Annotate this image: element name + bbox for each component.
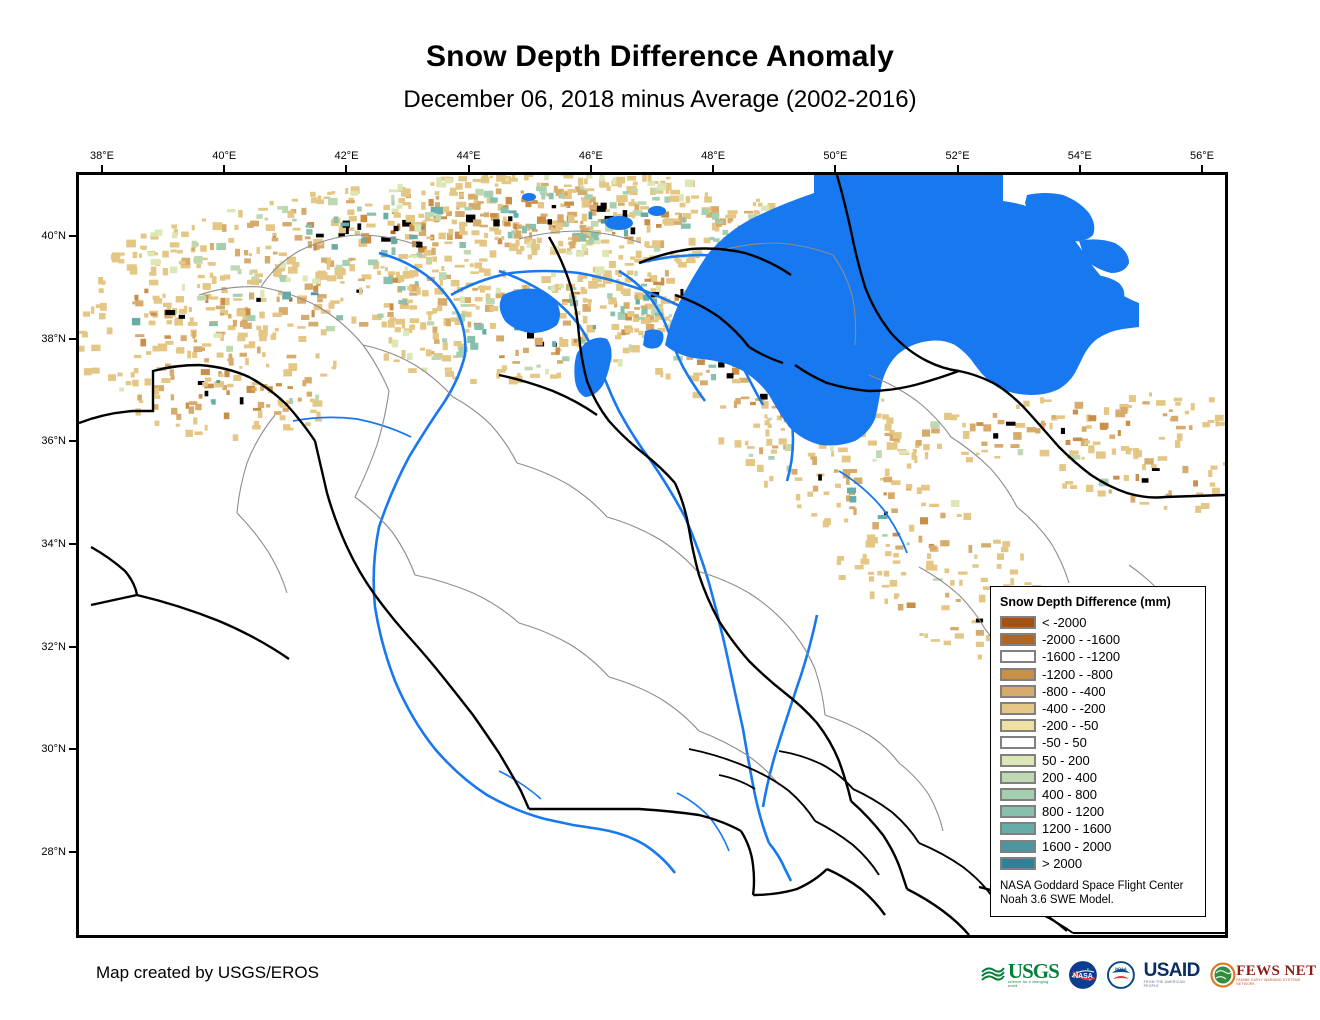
anomaly-cell-positive xyxy=(415,281,419,285)
anomaly-cell-positive xyxy=(496,288,501,294)
anomaly-cell-negative xyxy=(165,310,175,315)
anomaly-cell-negative xyxy=(1027,427,1036,432)
anomaly-cell-negative xyxy=(1164,506,1168,510)
anomaly-cell-negative xyxy=(131,372,135,377)
anomaly-cell-positive xyxy=(464,250,471,254)
anomaly-cell-negative xyxy=(133,252,138,258)
anomaly-cell-negative xyxy=(192,352,197,358)
anomaly-cell-negative xyxy=(940,540,949,546)
legend-label: -400 - -200 xyxy=(1042,702,1106,715)
anomaly-cell-negative xyxy=(121,253,125,256)
anomaly-cell-negative xyxy=(541,183,549,186)
anomaly-cell-negative xyxy=(931,639,940,642)
anomaly-cell-negative xyxy=(475,240,481,244)
latitude-label: 30°N xyxy=(18,743,66,755)
anomaly-cell-positive xyxy=(392,340,399,348)
anomaly-cell-negative xyxy=(818,474,822,480)
legend-swatch xyxy=(1000,805,1036,818)
anomaly-cell-negative xyxy=(126,240,136,248)
anomaly-cell-positive xyxy=(589,238,594,244)
anomaly-cell-negative xyxy=(885,599,889,605)
anomaly-cell-negative xyxy=(1201,503,1210,509)
anomaly-cell-positive xyxy=(461,304,469,307)
anomaly-cell-negative xyxy=(796,494,800,500)
anomaly-cell-negative xyxy=(1040,450,1050,457)
anomaly-cell-negative xyxy=(382,322,387,328)
anomaly-cell-positive xyxy=(332,244,338,250)
anomaly-cell-negative xyxy=(249,293,254,300)
anomaly-cell-negative xyxy=(195,431,203,435)
anomaly-cell-negative xyxy=(111,254,117,259)
anomaly-cell-negative xyxy=(884,492,887,495)
anomaly-cell-negative xyxy=(305,284,313,290)
legend-row: -1600 - -1200 xyxy=(1000,648,1196,665)
anomaly-cell-negative xyxy=(706,370,710,373)
anomaly-cell-negative xyxy=(1109,435,1115,439)
anomaly-cell-negative xyxy=(399,254,408,259)
anomaly-cell-negative xyxy=(523,348,529,353)
anomaly-cell-positive xyxy=(631,189,638,192)
anomaly-cell-negative xyxy=(697,359,705,365)
usgs-wave-icon xyxy=(980,962,1006,988)
anomaly-cell-negative xyxy=(118,259,124,263)
anomaly-cell-negative xyxy=(395,319,405,325)
anomaly-cell-negative xyxy=(434,339,440,344)
legend-label: 1200 - 1600 xyxy=(1042,822,1111,835)
anomaly-cell-negative xyxy=(409,293,417,296)
anomaly-cell-negative xyxy=(537,238,542,244)
anomaly-cell-positive xyxy=(580,187,585,190)
anomaly-cell-negative xyxy=(955,633,964,638)
anomaly-cell-negative xyxy=(317,199,325,204)
anomaly-cell-negative xyxy=(426,349,432,356)
anomaly-cell-negative xyxy=(920,517,928,524)
anomaly-cell-negative xyxy=(476,306,480,310)
anomaly-cell-negative xyxy=(518,224,522,229)
anomaly-cell-negative xyxy=(921,503,926,507)
legend-row: 1200 - 1600 xyxy=(1000,820,1196,837)
anomaly-cell-negative xyxy=(366,224,375,228)
anomaly-cell-negative xyxy=(480,214,485,217)
anomaly-cell-negative xyxy=(477,201,483,204)
anomaly-cell-negative xyxy=(470,379,477,384)
anomaly-cell-negative xyxy=(613,212,617,216)
anomaly-cell-negative xyxy=(213,222,223,230)
anomaly-cell-negative xyxy=(456,202,466,208)
anomaly-cell-positive xyxy=(591,221,599,227)
legend-swatch xyxy=(1000,822,1036,835)
anomaly-cell-negative xyxy=(1100,423,1107,430)
anomaly-cell-negative xyxy=(409,305,417,309)
usgs-logo: USGS science for a changing world xyxy=(980,960,1059,990)
anomaly-cell-negative xyxy=(558,249,566,254)
anomaly-cell-negative xyxy=(490,250,497,257)
anomaly-cell-negative xyxy=(201,369,210,375)
anomaly-cell-negative xyxy=(884,571,890,577)
anomaly-cell-negative xyxy=(145,378,151,385)
anomaly-cell-negative xyxy=(177,250,183,253)
anomaly-cell-negative xyxy=(1129,395,1136,402)
anomaly-cell-positive xyxy=(426,259,431,262)
anomaly-cell-negative xyxy=(107,327,113,334)
anomaly-cell-negative xyxy=(1152,468,1160,471)
anomaly-cell-negative xyxy=(644,219,650,225)
anomaly-cell-negative xyxy=(1159,437,1165,440)
anomaly-cell-positive xyxy=(522,226,527,234)
anomaly-cell-negative xyxy=(305,422,311,426)
anomaly-cell-negative xyxy=(1098,490,1106,496)
anomaly-cell-negative xyxy=(1023,401,1029,407)
anomaly-cell-positive xyxy=(474,324,484,330)
anomaly-cell-negative xyxy=(921,485,930,491)
anomaly-cell-negative xyxy=(1006,422,1016,426)
usgs-tagline: science for a changing world xyxy=(1008,980,1059,988)
anomaly-cell-negative xyxy=(1209,397,1215,402)
anomaly-cell-negative xyxy=(1126,421,1130,426)
anomaly-cell-negative xyxy=(1035,428,1040,433)
anomaly-cell-negative xyxy=(271,334,276,340)
anomaly-cell-negative xyxy=(581,289,587,294)
anomaly-cell-positive xyxy=(475,189,483,196)
anomaly-cell-positive xyxy=(654,247,661,252)
anomaly-cell-positive xyxy=(315,395,319,402)
anomaly-cell-negative xyxy=(163,294,166,298)
anomaly-cell-negative xyxy=(233,434,239,441)
anomaly-cell-positive xyxy=(641,213,649,218)
longitude-tick xyxy=(957,165,959,172)
anomaly-cell-negative xyxy=(886,544,890,547)
usaid-tagline: FROM THE AMERICAN PEOPLE xyxy=(1144,980,1202,988)
anomaly-cell-negative xyxy=(582,214,588,222)
anomaly-cell-negative xyxy=(753,424,760,428)
anomaly-cell-negative xyxy=(745,441,749,446)
anomaly-cell-negative xyxy=(583,316,588,324)
anomaly-cell-negative xyxy=(537,217,546,223)
anomaly-cell-negative xyxy=(433,333,439,340)
anomaly-cell-positive xyxy=(621,306,625,314)
anomaly-cell-negative xyxy=(881,399,885,402)
anomaly-cell-negative xyxy=(1088,415,1096,421)
anomaly-cell-negative xyxy=(1211,465,1218,469)
legend-row: 200 - 400 xyxy=(1000,769,1196,786)
page-subtitle: December 06, 2018 minus Average (2002-20… xyxy=(0,86,1320,114)
anomaly-cell-negative xyxy=(489,227,494,231)
anomaly-cell-positive xyxy=(527,242,532,247)
anomaly-cell-positive xyxy=(899,450,909,454)
anomaly-cell-negative xyxy=(981,450,988,453)
anomaly-cell-negative xyxy=(402,324,405,329)
anomaly-cell-negative xyxy=(893,432,902,439)
anomaly-cell-negative xyxy=(1002,541,1010,547)
anomaly-cell-positive xyxy=(470,343,478,350)
anomaly-cell-negative xyxy=(618,203,625,206)
anomaly-cell-negative xyxy=(79,346,85,352)
anomaly-cell-negative xyxy=(907,463,912,468)
anomaly-cell-negative xyxy=(385,267,388,271)
anomaly-cell-negative xyxy=(596,284,605,288)
anomaly-cell-negative xyxy=(1193,480,1198,486)
anomaly-cell-negative xyxy=(909,525,914,532)
anomaly-cell-negative xyxy=(512,175,515,178)
anomaly-cell-positive xyxy=(399,286,406,290)
anomaly-cell-negative xyxy=(661,278,664,286)
anomaly-cell-positive xyxy=(584,194,592,199)
anomaly-cell-negative xyxy=(727,214,737,218)
anomaly-cell-negative xyxy=(337,275,343,279)
anomaly-cell-positive xyxy=(907,542,910,545)
legend-row: -2000 - -1600 xyxy=(1000,631,1196,648)
anomaly-cell-positive xyxy=(549,193,554,200)
anomaly-cell-negative xyxy=(189,401,198,405)
anomaly-cell-negative xyxy=(464,259,469,262)
anomaly-cell-negative xyxy=(831,451,834,457)
longitude-label: 56°E xyxy=(1190,150,1214,162)
anomaly-cell-negative xyxy=(165,341,173,345)
anomaly-cell-negative xyxy=(653,282,661,285)
anomaly-cell-negative xyxy=(966,457,973,462)
anomaly-cell-negative xyxy=(769,476,773,481)
anomaly-cell-negative xyxy=(193,346,202,352)
anomaly-cell-positive xyxy=(637,201,646,205)
anomaly-cell-negative xyxy=(956,599,961,602)
anomaly-cell-negative xyxy=(926,565,935,571)
anomaly-cell-negative xyxy=(1088,445,1094,453)
anomaly-cell-negative xyxy=(979,595,986,603)
anomaly-cell-negative xyxy=(997,564,1002,569)
anomaly-cell-positive xyxy=(709,365,717,368)
anomaly-cell-negative xyxy=(144,313,148,317)
anomaly-cell-negative xyxy=(772,446,778,449)
anomaly-cell-negative xyxy=(882,414,889,419)
anomaly-cell-negative xyxy=(795,477,803,481)
anomaly-cell-negative xyxy=(676,259,682,264)
anomaly-cell-negative xyxy=(432,270,439,273)
anomaly-cell-negative xyxy=(891,480,901,485)
anomaly-cell-negative xyxy=(744,211,753,214)
anomaly-cell-negative xyxy=(247,223,254,228)
anomaly-cell-negative xyxy=(589,205,597,210)
legend-row: -200 - -50 xyxy=(1000,717,1196,734)
anomaly-cell-negative xyxy=(562,302,568,306)
anomaly-cell-negative xyxy=(205,425,208,431)
anomaly-cell-negative xyxy=(914,456,917,464)
anomaly-cell-negative xyxy=(479,268,484,273)
anomaly-cell-negative xyxy=(527,332,534,338)
svg-text:NOAA: NOAA xyxy=(1115,966,1127,971)
anomaly-cell-negative xyxy=(495,230,502,235)
anomaly-cell-negative xyxy=(569,241,575,248)
anomaly-cell-negative xyxy=(916,440,922,446)
anomaly-cell-positive xyxy=(702,209,709,215)
anomaly-cell-negative xyxy=(983,424,991,431)
anomaly-cell-negative xyxy=(741,397,750,400)
anomaly-cell-negative xyxy=(384,353,389,360)
anomaly-cell-positive xyxy=(172,233,177,239)
latitude-tick xyxy=(69,235,76,237)
anomaly-cell-negative xyxy=(895,546,903,550)
anomaly-cell-negative xyxy=(727,373,734,378)
anomaly-cell-positive xyxy=(282,206,288,213)
anomaly-cell-negative xyxy=(868,572,874,575)
anomaly-cell-negative xyxy=(432,256,437,261)
anomaly-cell-negative xyxy=(627,311,634,317)
anomaly-cell-negative xyxy=(349,227,354,231)
anomaly-cell-negative xyxy=(170,242,180,247)
anomaly-cell-negative xyxy=(388,271,395,275)
anomaly-cell-negative xyxy=(144,289,148,294)
anomaly-cell-negative xyxy=(91,345,100,352)
anomaly-cell-negative xyxy=(274,411,281,415)
anomaly-cell-negative xyxy=(222,290,228,293)
anomaly-cell-positive xyxy=(634,271,638,276)
anomaly-cell-negative xyxy=(993,540,1001,544)
anomaly-cell-negative xyxy=(839,575,846,580)
anomaly-cell-negative xyxy=(451,280,460,287)
anomaly-cell-negative xyxy=(202,219,206,222)
anomaly-cell-negative xyxy=(1175,440,1180,448)
anomaly-cell-negative xyxy=(418,214,424,218)
anomaly-cell-negative xyxy=(618,182,622,188)
anomaly-cell-negative xyxy=(584,179,588,185)
anomaly-cell-negative xyxy=(913,449,917,453)
anomaly-cell-positive xyxy=(361,238,366,244)
latitude-label: 40°N xyxy=(18,230,66,242)
anomaly-cell-negative xyxy=(390,303,394,310)
anomaly-cell-negative xyxy=(330,300,340,304)
anomaly-cell-negative xyxy=(227,384,233,388)
usaid-wordmark: USAID xyxy=(1144,962,1202,979)
anomaly-cell-negative xyxy=(555,223,562,230)
legend-label: < -2000 xyxy=(1042,616,1086,629)
anomaly-cell-negative xyxy=(266,364,269,368)
anomaly-cell-positive xyxy=(465,207,472,211)
anomaly-cell-negative xyxy=(192,331,195,339)
anomaly-cell-negative xyxy=(441,266,444,271)
longitude-label: 46°E xyxy=(579,150,603,162)
anomaly-cell-negative xyxy=(282,222,291,226)
anomaly-cell-negative xyxy=(930,546,937,551)
anomaly-cell-negative xyxy=(245,358,249,365)
anomaly-cell-negative xyxy=(652,240,662,248)
anomaly-cell-negative xyxy=(132,301,135,304)
anomaly-cell-negative xyxy=(228,314,231,319)
page-title: Snow Depth Difference Anomaly xyxy=(0,40,1320,74)
anomaly-cell-negative xyxy=(619,245,624,248)
anomaly-cell-negative xyxy=(410,216,414,219)
anomaly-cell-negative xyxy=(161,378,170,383)
anomaly-cell-negative xyxy=(155,421,160,426)
anomaly-cell-positive xyxy=(930,421,939,428)
anomaly-cell-negative xyxy=(559,339,568,347)
anomaly-cell-negative xyxy=(747,446,755,449)
anomaly-cell-negative xyxy=(455,211,465,217)
anomaly-cell-negative xyxy=(470,271,479,274)
longitude-label: 40°E xyxy=(212,150,236,162)
anomaly-cell-negative xyxy=(316,353,320,358)
anomaly-cell-negative xyxy=(468,322,472,328)
anomaly-cell-negative xyxy=(384,303,391,308)
longitude-label: 42°E xyxy=(334,150,358,162)
longitude-tick xyxy=(834,165,836,172)
anomaly-cell-negative xyxy=(261,298,266,302)
anomaly-cell-negative xyxy=(99,288,104,293)
anomaly-cell-negative xyxy=(1176,426,1186,430)
latitude-tick xyxy=(69,440,76,442)
anomaly-cell-negative xyxy=(127,264,137,270)
anomaly-cell-positive xyxy=(562,356,569,361)
anomaly-cell-negative xyxy=(283,408,289,412)
anomaly-cell-negative xyxy=(224,413,230,420)
anomaly-cell-negative xyxy=(240,397,244,404)
anomaly-cell-negative xyxy=(556,347,560,354)
anomaly-cell-negative xyxy=(298,336,306,342)
anomaly-cell-negative xyxy=(153,296,160,300)
anomaly-cell-negative xyxy=(636,251,642,259)
anomaly-cell-positive xyxy=(484,191,494,198)
anomaly-cell-positive xyxy=(328,198,338,205)
anomaly-cell-negative xyxy=(993,413,998,418)
legend-label: 50 - 200 xyxy=(1042,754,1090,767)
anomaly-cell-negative xyxy=(181,232,189,238)
legend-swatch xyxy=(1000,633,1036,646)
anomaly-cell-negative xyxy=(140,339,146,347)
anomaly-cell-negative xyxy=(689,238,696,246)
anomaly-cell-negative xyxy=(484,212,489,217)
anomaly-cell-positive xyxy=(610,312,615,317)
anomaly-cell-negative xyxy=(430,182,434,186)
anomaly-cell-positive xyxy=(342,260,350,266)
lake-small-2 xyxy=(648,206,666,216)
legend-label: 800 - 1200 xyxy=(1042,805,1104,818)
anomaly-cell-negative xyxy=(976,453,980,456)
anomaly-cell-negative xyxy=(229,358,234,366)
anomaly-cell-negative xyxy=(459,227,462,230)
anomaly-cell-positive xyxy=(1018,449,1024,455)
anomaly-cell-negative xyxy=(894,593,899,597)
anomaly-cell-negative xyxy=(221,298,225,305)
anomaly-cell-negative xyxy=(612,324,620,330)
anomaly-cell-negative xyxy=(176,296,184,303)
anomaly-cell-negative xyxy=(1136,474,1140,481)
anomaly-cell-negative xyxy=(1073,438,1082,442)
legend-row: -400 - -200 xyxy=(1000,700,1196,717)
anomaly-cell-negative xyxy=(139,254,142,258)
anomaly-cell-negative xyxy=(499,355,505,358)
anomaly-cell-negative xyxy=(254,421,259,425)
anomaly-cell-positive xyxy=(119,387,124,391)
anomaly-cell-negative xyxy=(634,307,640,310)
anomaly-cell-negative xyxy=(445,371,454,377)
anomaly-cell-negative xyxy=(963,431,969,439)
anomaly-cell-negative xyxy=(417,287,421,295)
anomaly-cell-negative xyxy=(633,182,638,186)
anomaly-cell-negative xyxy=(974,555,977,560)
anomaly-cell-negative xyxy=(466,329,470,333)
anomaly-cell-negative xyxy=(163,268,168,275)
anomaly-cell-negative xyxy=(202,382,208,387)
anomaly-cell-positive xyxy=(444,178,452,184)
anomaly-cell-negative xyxy=(490,213,497,217)
anomaly-cell-negative xyxy=(885,424,892,431)
anomaly-cell-negative xyxy=(558,241,563,247)
anomaly-cell-negative xyxy=(445,368,452,371)
anomaly-cell-negative xyxy=(198,275,205,278)
anomaly-cell-negative xyxy=(233,320,237,327)
anomaly-cell-positive xyxy=(303,276,308,282)
anomaly-cell-negative xyxy=(1059,464,1066,471)
anomaly-cell-positive xyxy=(233,294,243,297)
legend-swatch xyxy=(1000,736,1036,749)
